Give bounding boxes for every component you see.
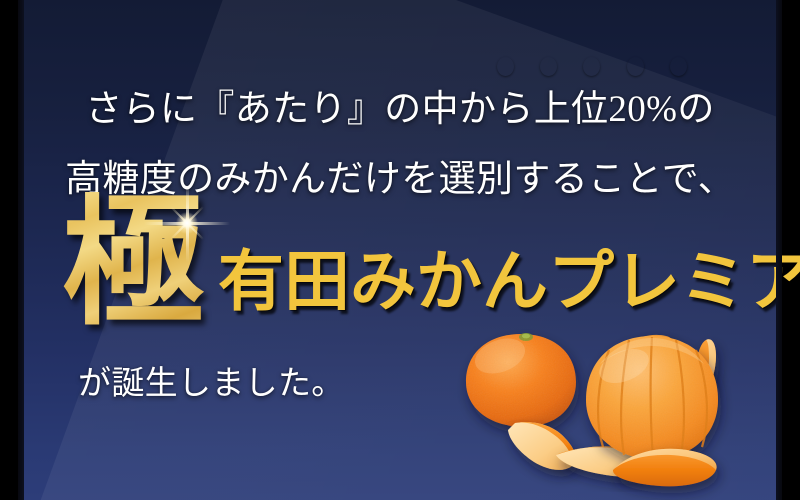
closing-line: が誕生しました。 — [0, 356, 800, 404]
headline-line-1: さらに『あたり』の中から上位20%の — [0, 78, 800, 132]
emphasis-dot — [670, 57, 687, 76]
kiwami-kanji-mark: 極 — [62, 192, 204, 334]
gold-border-right — [782, 0, 800, 500]
promo-banner: さらに『あたり』の中から上位20%の 高糖度のみかんだけを選別することで、 極 … — [0, 0, 800, 500]
emphasis-dot — [540, 57, 557, 76]
peel-curl-center — [556, 446, 658, 476]
hero-row: 極 有田みかんプレミアム — [0, 196, 800, 346]
emphasis-dot — [497, 57, 514, 76]
emphasis-dot — [583, 57, 600, 76]
gold-border-left — [0, 0, 18, 500]
product-name: 有田みかんプレミアム — [218, 249, 800, 315]
peel-front — [613, 449, 717, 487]
peel-curl-left — [508, 422, 576, 470]
emphasis-dot — [627, 57, 644, 76]
banner-content: さらに『あたり』の中から上位20%の 高糖度のみかんだけを選別することで、 極 … — [0, 0, 800, 500]
border-inner-line-left — [18, 0, 24, 500]
